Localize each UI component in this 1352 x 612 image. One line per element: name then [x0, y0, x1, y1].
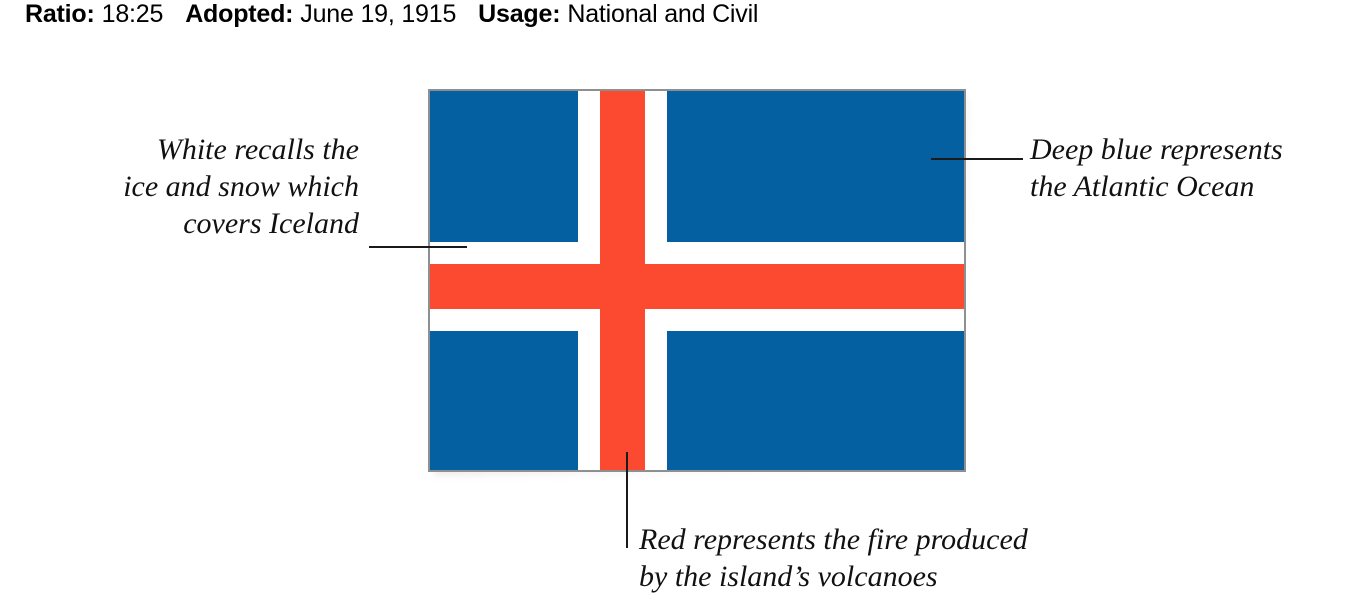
- flag-of-iceland: [428, 89, 966, 472]
- annotation-blue-line-1: Deep blue represents: [1030, 131, 1283, 168]
- flag-red-cross-horizontal: [430, 264, 964, 309]
- annotation-white-leader-line: [369, 246, 467, 248]
- annotation-red-line-2: by the island’s volcanoes: [639, 558, 1028, 595]
- metadata-item-ratio: Ratio: 18:25: [25, 0, 163, 31]
- flag-metadata-bar: Ratio: 18:25 Adopted: June 19, 1915 Usag…: [25, 0, 758, 31]
- metadata-value-ratio: 18:25: [102, 0, 164, 31]
- metadata-value-usage: National and Civil: [567, 0, 758, 31]
- annotation-blue-leader-line: [931, 158, 1023, 160]
- metadata-label-adopted: Adopted:: [185, 0, 293, 31]
- annotation-white-line-2: ice and snow which: [123, 168, 359, 205]
- flag-figure: [428, 89, 970, 476]
- annotation-white-meaning: White recalls the ice and snow which cov…: [123, 131, 359, 242]
- annotation-white-line-3: covers Iceland: [123, 205, 359, 242]
- metadata-label-ratio: Ratio:: [25, 0, 95, 31]
- annotation-red-meaning: Red represents the fire produced by the …: [639, 521, 1028, 595]
- metadata-item-adopted: Adopted: June 19, 1915: [185, 0, 456, 31]
- metadata-value-adopted: June 19, 1915: [300, 0, 456, 31]
- annotation-blue-meaning: Deep blue represents the Atlantic Ocean: [1030, 131, 1283, 205]
- annotation-blue-line-2: the Atlantic Ocean: [1030, 168, 1283, 205]
- annotation-white-line-1: White recalls the: [123, 131, 359, 168]
- metadata-label-usage: Usage:: [478, 0, 560, 31]
- annotation-red-leader-line: [626, 452, 628, 548]
- annotation-red-line-1: Red represents the fire produced: [639, 521, 1028, 558]
- metadata-item-usage: Usage: National and Civil: [478, 0, 758, 31]
